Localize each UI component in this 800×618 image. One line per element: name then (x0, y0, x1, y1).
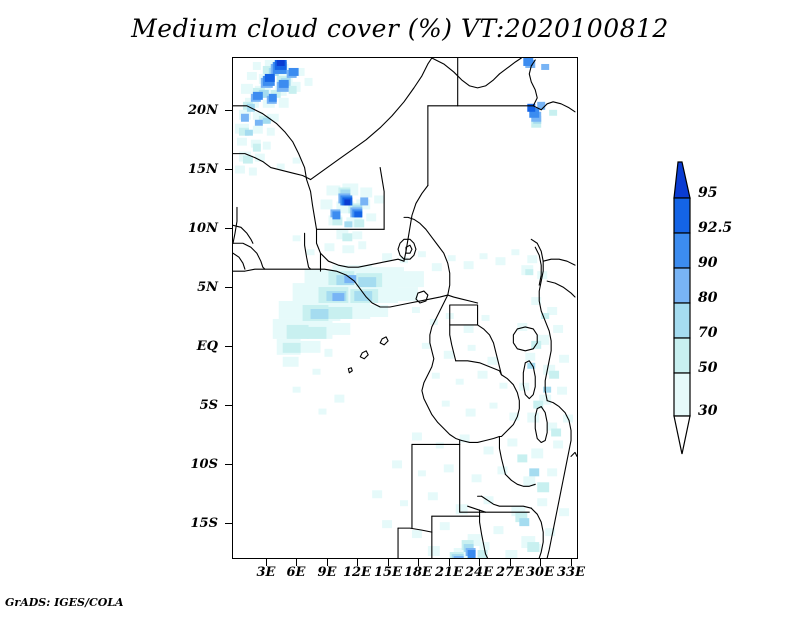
colorbar-label-50: 50 (698, 360, 717, 376)
grads-plot-page: Medium cloud cover (%) VT:2020100812 (0, 0, 800, 618)
map-plot-area (232, 57, 578, 559)
colorbar-label-95: 95 (698, 185, 717, 201)
y-label-5N: 5N (160, 280, 218, 295)
colorbar-label-70: 70 (698, 325, 717, 341)
y-tick-10S (225, 464, 232, 465)
colorbar-label-92.5: 92.5 (698, 220, 732, 236)
y-tick-5S (225, 405, 232, 406)
footer-attribution: GrADS: IGES/COLA (5, 596, 124, 609)
y-label-EQ: EQ (160, 339, 218, 354)
colorbar: 95 92.5 90 80 70 50 30 (660, 160, 790, 460)
y-label-15N: 15N (160, 162, 218, 177)
map-coastline-borders (233, 58, 577, 558)
colorbar-label-80: 80 (698, 290, 717, 306)
y-label-20N: 20N (160, 103, 218, 118)
y-label-15S: 15S (160, 516, 218, 531)
colorbar-label-90: 90 (698, 255, 717, 271)
y-tick-5N (225, 287, 232, 288)
y-tick-20N (225, 110, 232, 111)
y-label-10S: 10S (160, 457, 218, 472)
y-label-10N: 10N (160, 221, 218, 236)
y-tick-15S (225, 523, 232, 524)
y-tick-15N (225, 169, 232, 170)
y-tick-10N (225, 228, 232, 229)
y-label-5S: 5S (160, 398, 218, 413)
colorbar-label-30: 30 (698, 403, 717, 419)
page-title: Medium cloud cover (%) VT:2020100812 (0, 14, 800, 43)
x-label-33E: 33E (545, 565, 597, 580)
y-tick-EQ (225, 346, 232, 347)
